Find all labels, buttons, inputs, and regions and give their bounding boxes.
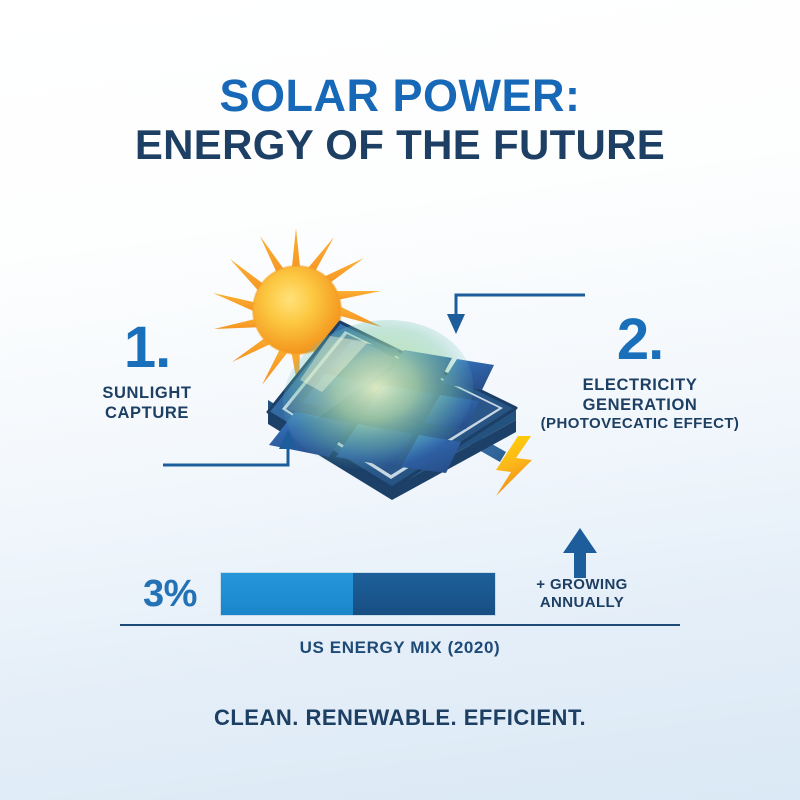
arrow-step-1-head bbox=[279, 430, 297, 449]
step-2-sublabel: (PHOTOVECATIC EFFECT) bbox=[500, 415, 780, 433]
step-1-label-line-1: SUNLIGHT bbox=[32, 383, 262, 403]
arrow-step-2-head bbox=[447, 314, 465, 334]
title-line-primary: SOLAR POWER: bbox=[0, 72, 800, 120]
title-line-secondary: ENERGY OF THE FUTURE bbox=[0, 120, 800, 170]
infographic-poster: SOLAR POWER: ENERGY OF THE FUTURE bbox=[0, 0, 800, 800]
step-1-label: SUNLIGHT CAPTURE bbox=[32, 383, 262, 423]
chart-baseline-rule bbox=[120, 624, 680, 626]
page-title: SOLAR POWER: ENERGY OF THE FUTURE bbox=[0, 72, 800, 169]
step-2-block: 2. ELECTRICITY GENERATION (PHOTOVECATIC … bbox=[500, 312, 780, 434]
step-1-number: 1. bbox=[32, 320, 262, 375]
bar-segment-dark bbox=[353, 573, 495, 615]
energy-mix-bar bbox=[220, 572, 496, 616]
growth-annotation-line-1: + GROWING bbox=[512, 576, 652, 594]
tagline: CLEAN. RENEWABLE. EFFICIENT. bbox=[0, 705, 800, 731]
solar-share-value: 3% bbox=[120, 573, 220, 616]
solar-panel-icon bbox=[268, 303, 516, 500]
chart-caption: US ENERGY MIX (2020) bbox=[0, 638, 800, 658]
lightning-bolt-icon bbox=[496, 436, 532, 496]
energy-mix-chart: 3% + GROWING ANNUALLY bbox=[120, 570, 680, 618]
panel-cable bbox=[426, 410, 506, 462]
growth-annotation-line-2: ANNUALLY bbox=[512, 594, 652, 612]
step-2-label: ELECTRICITY GENERATION bbox=[500, 375, 780, 415]
step-2-label-line-2: GENERATION bbox=[500, 395, 780, 415]
growth-annotation: + GROWING ANNUALLY bbox=[512, 576, 652, 612]
step-2-number: 2. bbox=[500, 312, 780, 367]
bar-segment-light bbox=[221, 573, 353, 615]
panel-cells bbox=[269, 341, 494, 473]
step-2-label-line-1: ELECTRICITY bbox=[500, 375, 780, 395]
step-1-label-line-2: CAPTURE bbox=[32, 403, 262, 423]
arrow-step-1 bbox=[163, 442, 288, 465]
step-1-block: 1. SUNLIGHT CAPTURE bbox=[32, 320, 262, 423]
